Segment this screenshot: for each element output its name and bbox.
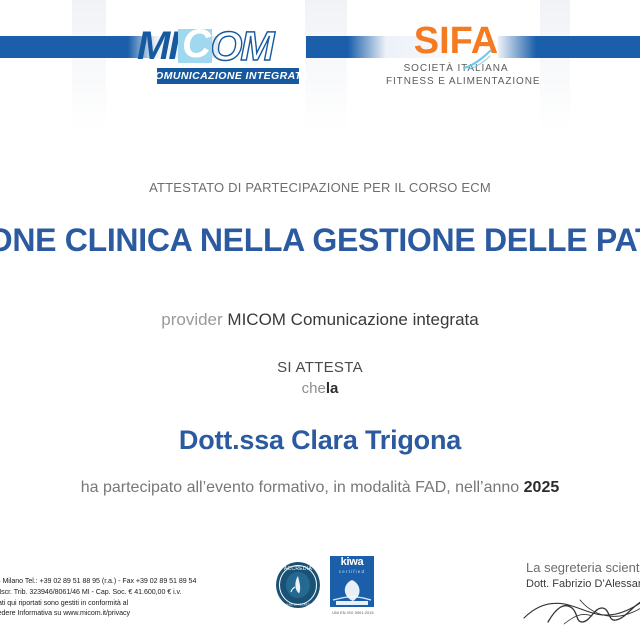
signature-block: La segreteria scientifica Dott. Fabrizio… bbox=[526, 560, 640, 590]
recipient-name: Dott.ssa Clara Trigona bbox=[0, 425, 640, 456]
provider-line: provider MICOM Comunicazione integrata bbox=[0, 310, 640, 330]
sifa-wordmark: SIFA bbox=[414, 22, 498, 60]
sifa-subtitle-line2: FITNESS E ALIMENTAZIONE bbox=[386, 76, 526, 87]
la-label: la bbox=[326, 380, 339, 397]
legal-line-2: P. IVA 12837696 - Iscr. Trib. 323946/806… bbox=[0, 587, 232, 598]
provider-value: MICOM Comunicazione integrata bbox=[227, 310, 478, 329]
participation-year: 2025 bbox=[524, 479, 560, 496]
micom-letters-mi: MI bbox=[137, 26, 177, 66]
header-blue-bar-left bbox=[0, 36, 128, 58]
legal-line-3: info@micom.it. I dati qui riportati sono… bbox=[0, 598, 232, 609]
micom-letter-c: C bbox=[182, 24, 209, 64]
micom-logo: MI C OM COMUNICAZIONE INTEGRATA bbox=[137, 24, 302, 86]
legal-line-4: GDPR 679/16 – Vedere Informativa su www.… bbox=[0, 608, 232, 619]
participation-text: ha partecipato all’evento formativo, in … bbox=[81, 479, 519, 496]
svg-text:ACCREDIA: ACCREDIA bbox=[284, 566, 313, 572]
signature-name: Dott. Fabrizio D’Alessandro bbox=[526, 578, 640, 590]
sifa-logo: SIFA SOCIETÀ ITALIANA FITNESS E ALIMENTA… bbox=[386, 22, 526, 94]
kiwa-certification-badge: kiwa certified bbox=[330, 556, 374, 608]
header-blue-bar-middle bbox=[306, 36, 348, 58]
legal-line-1: Via Lorenteggio 44 Milano Tel.: +39 02 8… bbox=[0, 576, 232, 587]
kiwa-iso-standard: UNI EN ISO 9001:2015 bbox=[318, 611, 388, 615]
accredia-seal-icon: ACCREDIA ENTE ITALIANO DI ACCREDITAMENTO bbox=[274, 560, 322, 610]
micom-letter-c-box: C bbox=[178, 29, 212, 63]
si-attesta-label: SI ATTESTA bbox=[0, 359, 640, 376]
company-legal-info: Via Lorenteggio 44 Milano Tel.: +39 02 8… bbox=[0, 576, 232, 619]
certificate-header: MI C OM COMUNICAZIONE INTEGRATA SIFA SOC… bbox=[0, 0, 640, 104]
che-la-line: chela bbox=[0, 380, 640, 397]
provider-label: provider bbox=[161, 310, 222, 329]
kiwa-badge-body bbox=[330, 575, 374, 607]
micom-letters-om: OM bbox=[210, 26, 272, 67]
header-blue-bar-right bbox=[536, 36, 640, 58]
micom-tagline: COMUNICAZIONE INTEGRATA bbox=[157, 68, 299, 84]
header-bar-fade-middle bbox=[348, 36, 386, 58]
course-title: NUTRIZIONE CLINICA NELLA GESTIONE DELLE … bbox=[0, 222, 640, 259]
participation-statement: ha partecipato all’evento formativo, in … bbox=[0, 479, 640, 497]
signature-title: La segreteria scientifica bbox=[526, 560, 640, 575]
kiwa-emblem-icon bbox=[331, 576, 373, 606]
certificate-page: MI C OM COMUNICAZIONE INTEGRATA SIFA SOC… bbox=[0, 0, 640, 640]
kiwa-label: kiwa bbox=[330, 556, 374, 569]
che-label: che bbox=[302, 380, 326, 397]
sifa-subtitle-line1: SOCIETÀ ITALIANA bbox=[386, 63, 526, 74]
svg-text:ENTE ITALIANO DI ACCREDITAMENT: ENTE ITALIANO DI ACCREDITAMENTO bbox=[274, 603, 322, 607]
certificate-subtitle: ATTESTATO DI PARTECIPAZIONE PER IL CORSO… bbox=[0, 180, 640, 195]
micom-wordmark: MI C OM bbox=[137, 24, 302, 68]
